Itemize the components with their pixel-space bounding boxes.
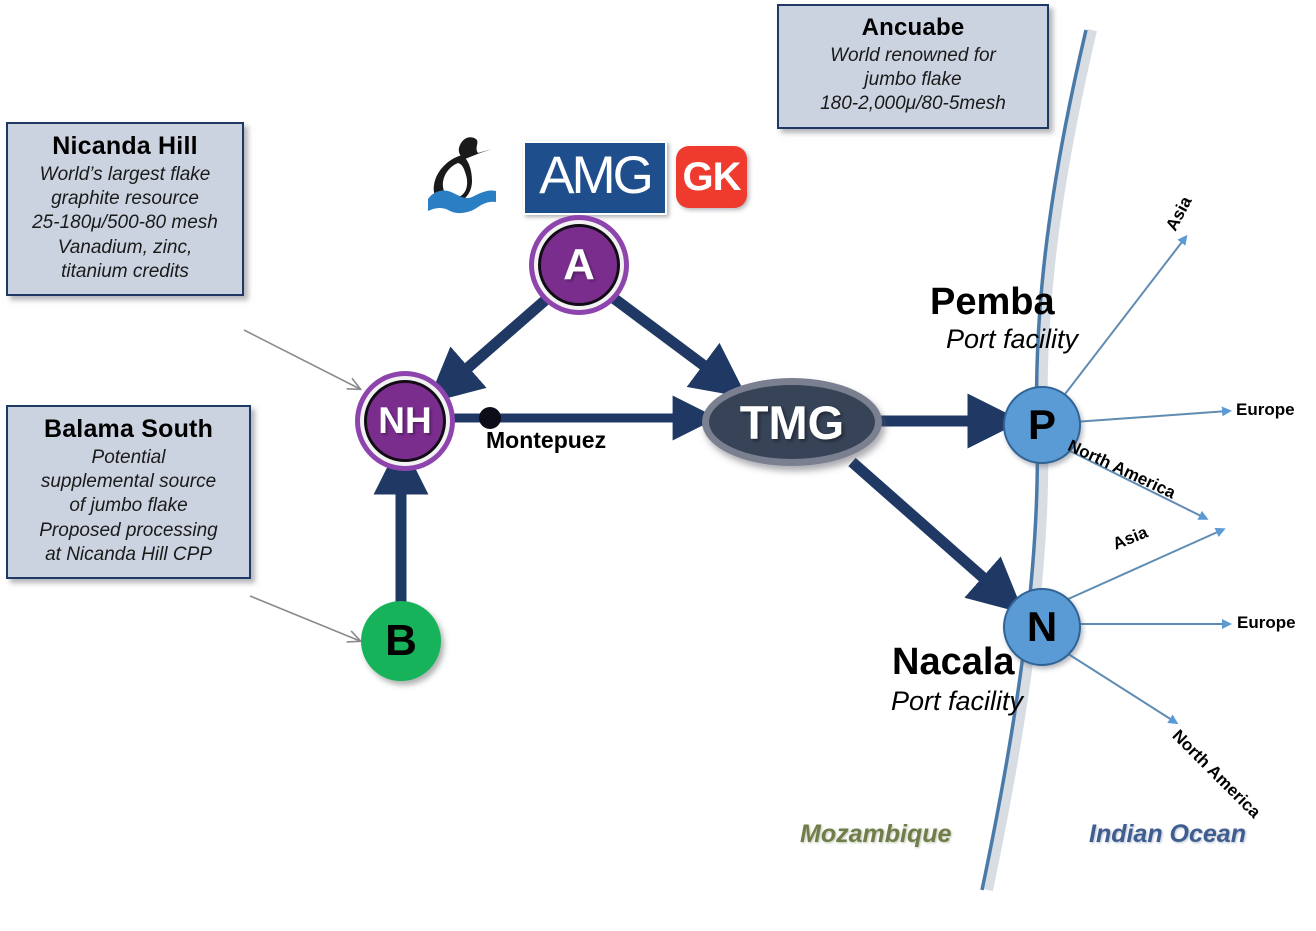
callout-line: graphite resource <box>18 187 232 211</box>
diagram-canvas: Nicanda Hill World’s largest flake graph… <box>0 0 1316 931</box>
arrow-tmg-to-n <box>852 462 1004 596</box>
node-ancuabe[interactable]: A <box>538 224 620 306</box>
callout-ancuabe: Ancuabe World renowned for jumbo flake 1… <box>777 4 1049 129</box>
node-label: B <box>385 616 417 666</box>
callout-line: supplemental source <box>18 470 239 494</box>
node-nicanda-hill[interactable]: NH <box>364 380 446 462</box>
node-balama-south[interactable]: B <box>361 601 441 681</box>
callout-line: Proposed processing <box>18 519 239 543</box>
amg-logo-text: AMG <box>525 143 665 209</box>
node-label: N <box>1027 603 1057 651</box>
callout-line: jumbo flake <box>789 68 1037 92</box>
callout-line: 180-2,000μ/80-5mesh <box>789 92 1037 116</box>
label-pemba-subtitle: Port facility <box>946 324 1078 355</box>
label-pemba: Pemba <box>930 281 1055 324</box>
export-pemba-europe <box>1074 411 1228 422</box>
node-label: A <box>563 240 595 290</box>
gk-logo-text: GK <box>676 146 747 208</box>
arrow-a-to-nh <box>447 296 550 386</box>
callout-line: World renowned for <box>789 44 1037 68</box>
node-label: NH <box>378 400 431 442</box>
callout-title: Ancuabe <box>789 14 1037 42</box>
montepuez-dot <box>479 407 501 429</box>
callout-line: at Nicanda Hill CPP <box>18 543 239 567</box>
callout-line: titanium credits <box>18 260 232 284</box>
label-nacala-subtitle: Port facility <box>891 686 1023 717</box>
callout-line: World’s largest flake <box>18 163 232 187</box>
callout-nicanda-hill: Nicanda Hill World’s largest flake graph… <box>6 122 244 296</box>
amg-logo: AMG <box>523 141 667 215</box>
callout-line: of jumbo flake <box>18 494 239 518</box>
label-nacala: Nacala <box>892 641 1015 684</box>
callout-line: Vanadium, zinc, <box>18 236 232 260</box>
export-label-nacala-europe: Europe <box>1237 613 1296 633</box>
label-indian-ocean: Indian Ocean <box>1089 820 1246 849</box>
gk-logo: GK <box>676 146 747 208</box>
arrow-a-to-tmg <box>608 294 726 382</box>
pointer-balama <box>250 596 360 641</box>
export-label-pemba-europe: Europe <box>1236 400 1295 420</box>
export-label-pemba-asia: Asia <box>1162 193 1197 234</box>
figure-wave-logo <box>418 131 504 221</box>
export-label-nacala-north-america: North America <box>1168 726 1265 823</box>
callout-title: Balama South <box>18 415 239 444</box>
node-label: P <box>1028 401 1056 449</box>
node-tmg[interactable]: TMG <box>702 378 882 466</box>
callout-line: Potential <box>18 446 239 470</box>
export-label-nacala-asia: Asia <box>1110 523 1151 555</box>
export-label-pemba-north-america: North America <box>1065 436 1179 503</box>
pointer-nicanda <box>244 330 360 389</box>
export-pemba-asia <box>1062 238 1185 398</box>
callout-line: 25-180μ/500-80 mesh <box>18 211 232 235</box>
label-mozambique: Mozambique <box>800 820 951 849</box>
label-montepuez: Montepuez <box>486 427 606 454</box>
node-label: TMG <box>740 395 844 450</box>
callout-title: Nicanda Hill <box>18 132 232 161</box>
export-nacala-north-america <box>1062 650 1175 722</box>
callout-balama-south: Balama South Potential supplemental sour… <box>6 405 251 579</box>
